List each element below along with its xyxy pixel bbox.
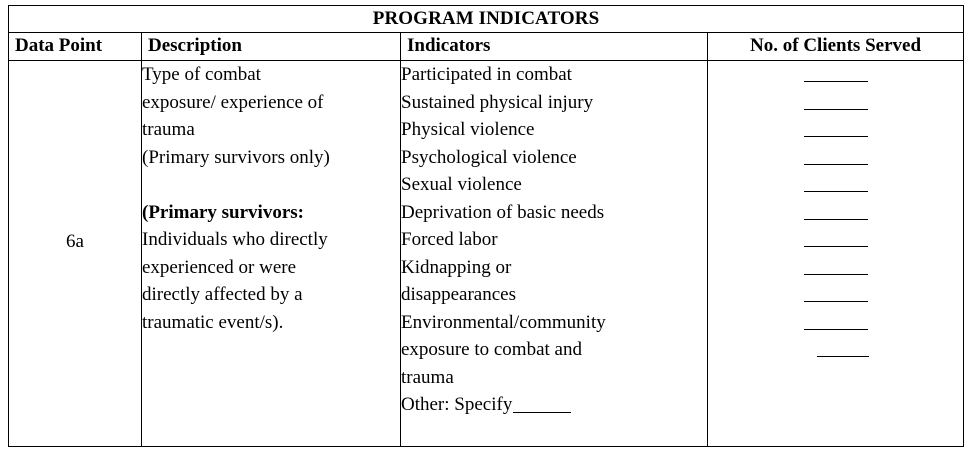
description-line: trauma bbox=[142, 116, 400, 144]
clients-blank-line bbox=[804, 109, 868, 110]
cell-description: Type of combat exposure/ experience of t… bbox=[142, 61, 401, 447]
column-header-description: Description bbox=[142, 33, 401, 61]
list-item: Deprivation of basic needs bbox=[401, 199, 707, 227]
table-title-row: PROGRAM INDICATORS bbox=[9, 6, 964, 33]
table-header-row: Data Point Description Indicators No. of… bbox=[9, 33, 964, 61]
description-line: Individuals who directly bbox=[142, 226, 400, 254]
clients-blank-row[interactable] bbox=[708, 340, 963, 368]
clients-blank-row[interactable] bbox=[708, 230, 963, 258]
cell-data-point: 6a bbox=[9, 61, 142, 447]
clients-blank-row[interactable] bbox=[708, 65, 963, 93]
clients-blank-row[interactable] bbox=[708, 93, 963, 121]
list-item: Participated in combat bbox=[401, 61, 707, 89]
description-block: Type of combat exposure/ experience of t… bbox=[142, 61, 400, 336]
table-row: 6a Type of combat exposure/ experience o… bbox=[9, 61, 964, 447]
column-header-indicators-label: Indicators bbox=[401, 33, 707, 60]
clients-blank-line bbox=[804, 164, 868, 165]
description-line: experienced or were bbox=[142, 254, 400, 282]
clients-blank-row[interactable] bbox=[708, 203, 963, 231]
clients-blank-row[interactable] bbox=[708, 175, 963, 203]
column-header-description-label: Description bbox=[142, 33, 400, 60]
description-line: (Primary survivors only) bbox=[142, 144, 400, 172]
cell-indicators: Participated in combat Sustained physica… bbox=[401, 61, 708, 447]
clients-blank-row[interactable] bbox=[708, 313, 963, 341]
description-line: exposure/ experience of bbox=[142, 89, 400, 117]
clients-blank-row[interactable] bbox=[708, 285, 963, 313]
clients-blank-row[interactable] bbox=[708, 120, 963, 148]
list-item: Kidnapping or bbox=[401, 254, 707, 282]
clients-blank-line bbox=[804, 274, 868, 275]
description-definition-bold: (Primary survivors: bbox=[142, 202, 304, 223]
indicator-list: Participated in combat Sustained physica… bbox=[401, 61, 707, 419]
table-title: PROGRAM INDICATORS bbox=[9, 6, 964, 33]
list-item: exposure to combat and bbox=[401, 336, 707, 364]
column-header-clients-served: No. of Clients Served bbox=[708, 33, 964, 61]
column-header-indicators: Indicators bbox=[401, 33, 708, 61]
description-line: directly affected by a bbox=[142, 281, 400, 309]
list-item: trauma bbox=[401, 364, 707, 392]
list-item: disappearances bbox=[401, 281, 707, 309]
list-item: Psychological violence bbox=[401, 144, 707, 172]
column-header-clients-served-label: No. of Clients Served bbox=[708, 33, 963, 60]
cell-clients-served bbox=[708, 61, 964, 447]
document-page: PROGRAM INDICATORS Data Point Descriptio… bbox=[0, 5, 971, 462]
data-point-value: 6a bbox=[9, 231, 141, 253]
description-spacer bbox=[142, 171, 400, 199]
indicator-other-label: Other: Specify bbox=[401, 394, 512, 415]
clients-blank-line bbox=[804, 219, 868, 220]
list-item: Sustained physical injury bbox=[401, 89, 707, 117]
list-item: Sexual violence bbox=[401, 171, 707, 199]
list-item: Forced labor bbox=[401, 226, 707, 254]
clients-blank-stack bbox=[708, 61, 963, 368]
clients-blank-line bbox=[804, 246, 868, 247]
clients-blank-line bbox=[804, 329, 868, 330]
clients-blank-line bbox=[804, 191, 868, 192]
clients-blank-row[interactable] bbox=[708, 258, 963, 286]
description-line: Type of combat bbox=[142, 61, 400, 89]
list-item: Environmental/community bbox=[401, 309, 707, 337]
clients-blank-row[interactable] bbox=[708, 148, 963, 176]
description-definition-heading: (Primary survivors: bbox=[142, 199, 400, 227]
clients-blank-line bbox=[804, 136, 868, 137]
clients-blank-line bbox=[804, 301, 868, 302]
program-indicators-table: PROGRAM INDICATORS Data Point Descriptio… bbox=[8, 5, 964, 447]
indicator-other-blank[interactable] bbox=[513, 412, 571, 413]
list-item: Physical violence bbox=[401, 116, 707, 144]
list-item-other: Other: Specify bbox=[401, 391, 707, 419]
column-header-data-point: Data Point bbox=[9, 33, 142, 61]
clients-blank-line bbox=[817, 356, 869, 357]
column-header-data-point-label: Data Point bbox=[9, 33, 141, 60]
clients-blank-line bbox=[804, 81, 868, 82]
description-line: traumatic event/s). bbox=[142, 309, 400, 337]
